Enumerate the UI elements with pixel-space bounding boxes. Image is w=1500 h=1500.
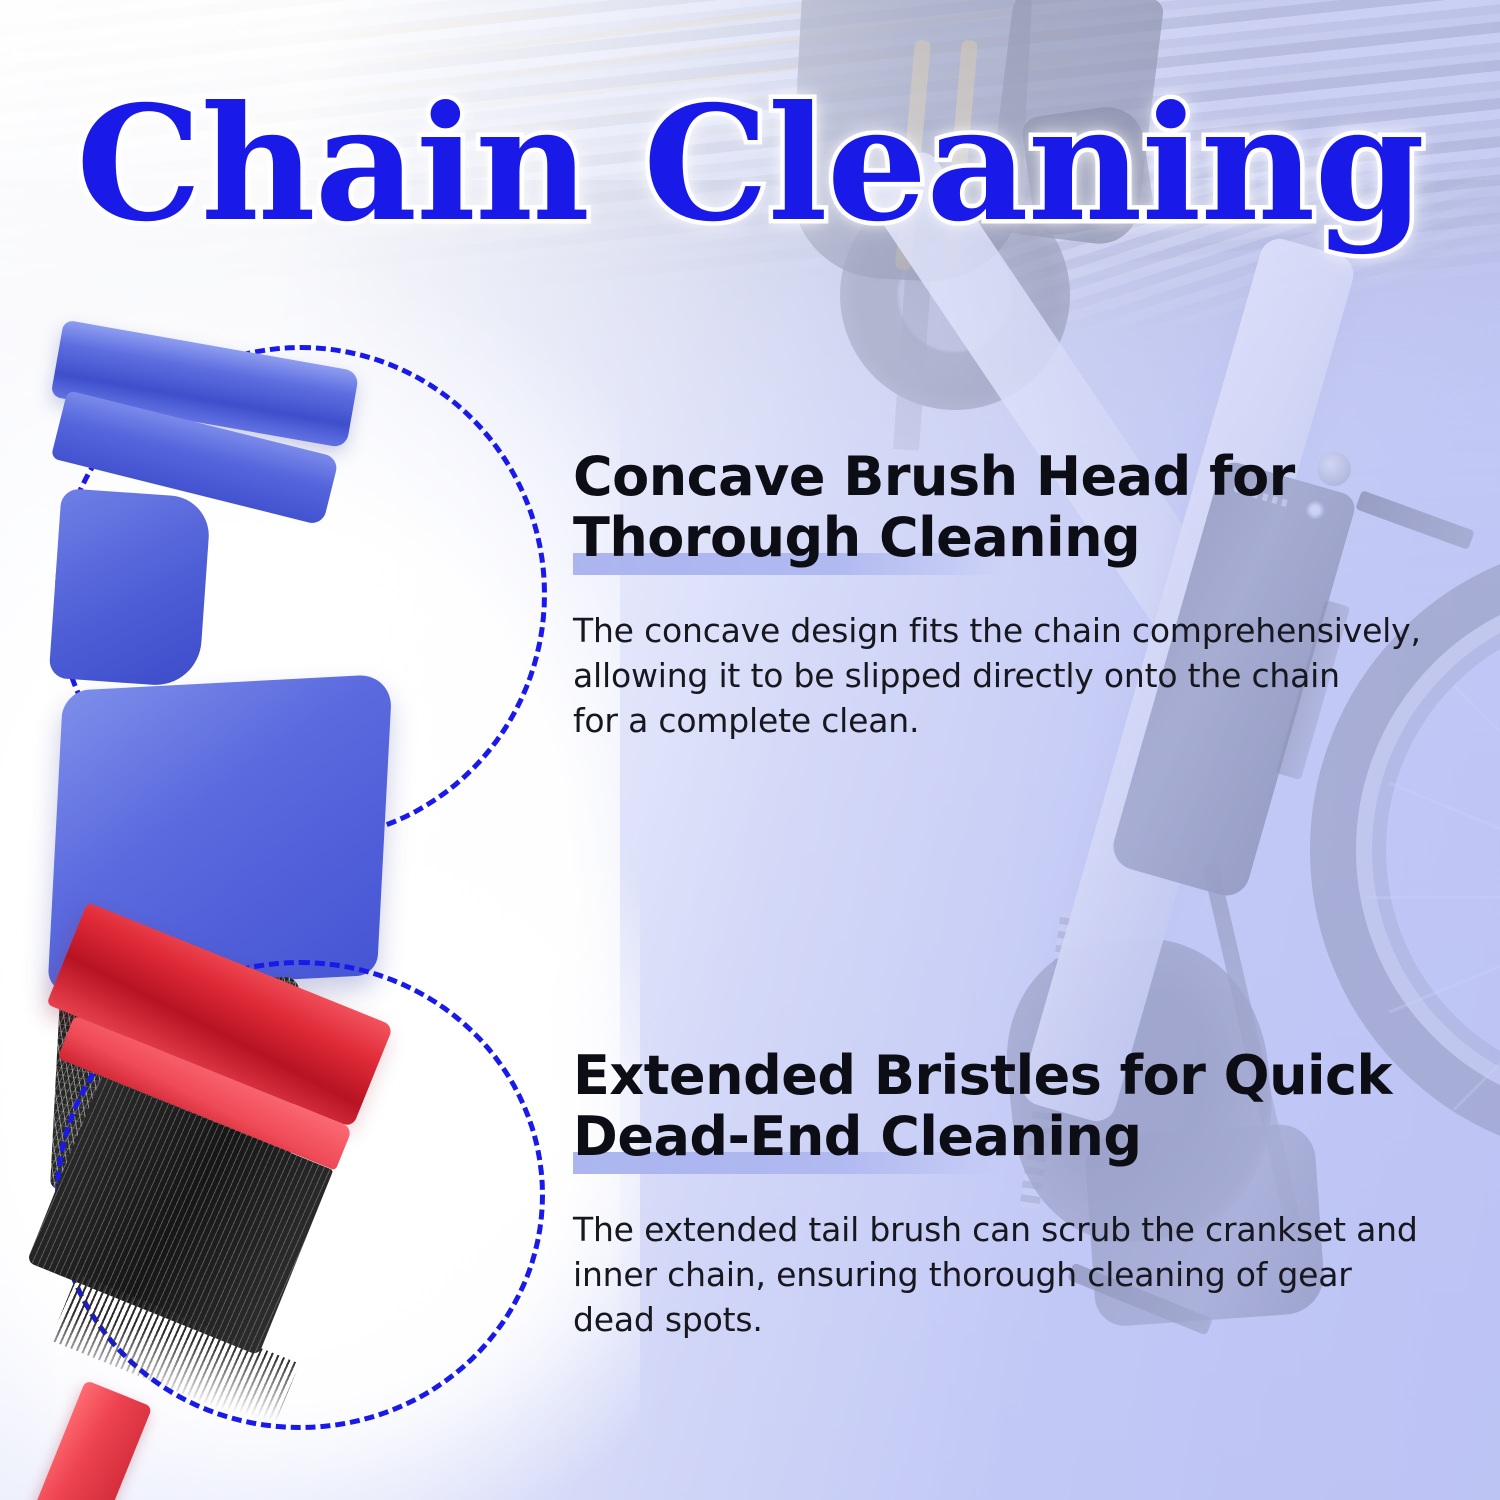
tail-brush-collar: [30, 1380, 153, 1500]
feature-body-2: The extended tail brush can scrub the cr…: [573, 1207, 1453, 1342]
page-title: Chain Cleaning: [0, 86, 1500, 244]
feature-heading-2: Extended Bristles for Quick Dead-End Cle…: [573, 1045, 1393, 1167]
infographic-canvas: Chain Cleaning Concave Brush Head for Th…: [0, 0, 1500, 1500]
product-photo-red-tail-brush: [55, 960, 545, 1430]
